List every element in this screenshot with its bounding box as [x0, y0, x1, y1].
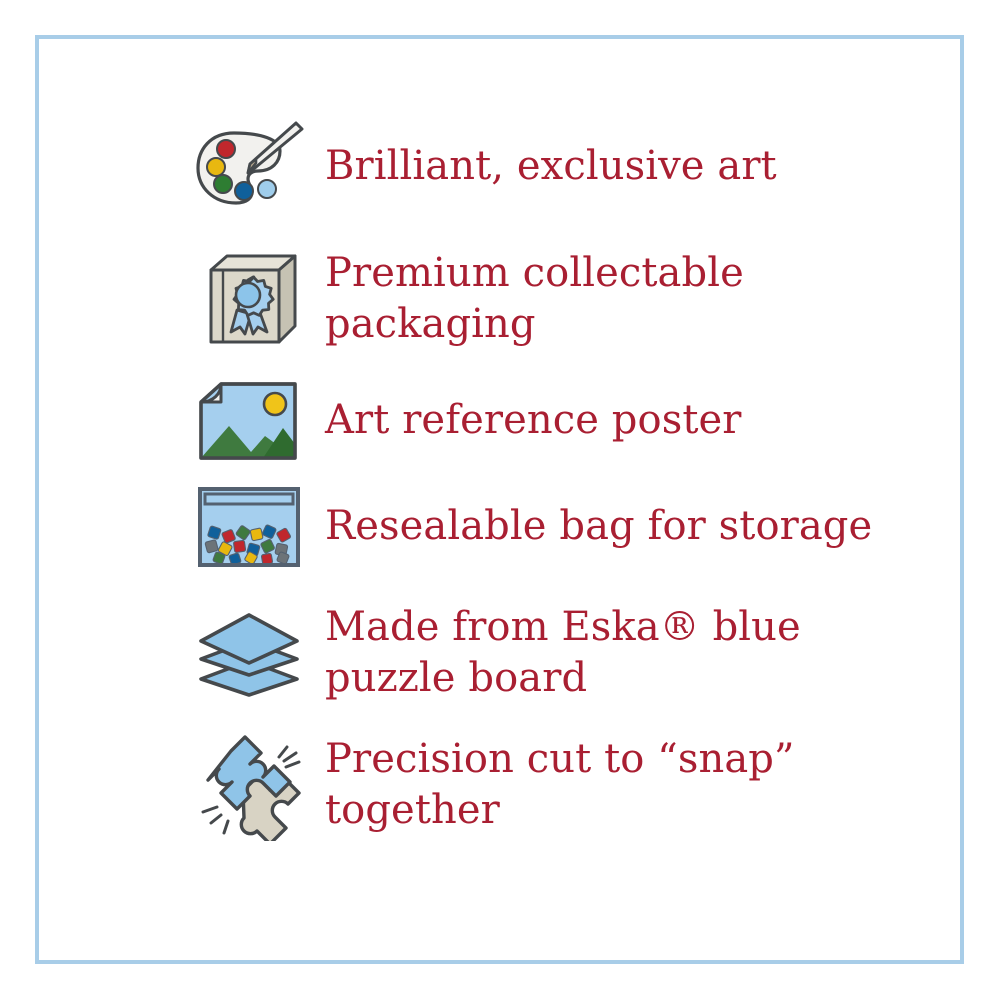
page-frame-border: Brilliant, exclusive art: [35, 35, 964, 964]
list-item: Precision cut to “snap” together: [179, 729, 939, 841]
list-item-label: Art reference poster: [319, 395, 939, 446]
poster-image-icon: [179, 371, 319, 471]
stacked-board-icon: [179, 603, 319, 703]
resealable-bag-icon: [179, 477, 319, 577]
list-item-label: Resealable bag for storage: [319, 501, 939, 552]
list-item-label: Brilliant, exclusive art: [319, 141, 939, 192]
list-item: Premium collectable packaging: [179, 243, 939, 355]
list-item: Art reference poster: [179, 371, 939, 471]
list-item-label: Made from Eska® blue puzzle board: [319, 602, 939, 704]
feature-label-line: Resealable bag for storage: [325, 501, 939, 552]
paint-palette-icon: [179, 117, 319, 217]
feature-label-line: together: [325, 785, 939, 836]
list-item: Made from Eska® blue puzzle board: [179, 597, 939, 709]
feature-label-line: Premium collectable: [325, 248, 939, 299]
feature-list-page: Brilliant, exclusive art: [0, 0, 1000, 1000]
award-box-icon: [179, 249, 319, 349]
feature-label-line: packaging: [325, 299, 939, 350]
feature-label-line: Precision cut to “snap”: [325, 734, 939, 785]
list-item: Resealable bag for storage: [179, 477, 939, 577]
feature-label-line: Brilliant, exclusive art: [325, 141, 939, 192]
feature-label-line: Art reference poster: [325, 395, 939, 446]
list-item: Brilliant, exclusive art: [179, 117, 939, 217]
feature-label-line: puzzle board: [325, 653, 939, 704]
list-item-label: Premium collectable packaging: [319, 248, 939, 350]
snap-puzzle-pieces-icon: [179, 735, 319, 835]
feature-label-line: Made from Eska® blue: [325, 602, 939, 653]
feature-list: Brilliant, exclusive art: [179, 99, 939, 929]
list-item-label: Precision cut to “snap” together: [319, 734, 939, 836]
